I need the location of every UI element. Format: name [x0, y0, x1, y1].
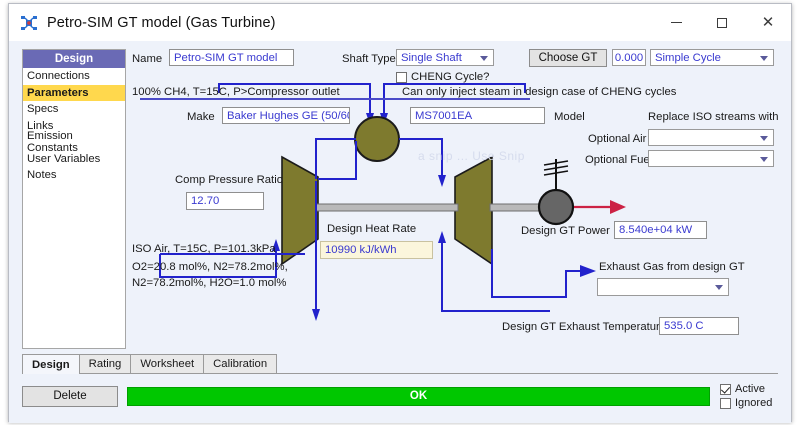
cycle-type-value: Simple Cycle [655, 52, 721, 64]
optional-air-label: Optional Air [588, 133, 646, 145]
status-bar: Delete OK Active Ignored [22, 385, 778, 407]
maximize-icon [717, 18, 727, 28]
status-flags: Active Ignored [720, 383, 772, 409]
tab-worksheet[interactable]: Worksheet [130, 354, 204, 373]
cheng-cycle-check-box[interactable] [396, 72, 407, 83]
chevron-down-icon [480, 56, 488, 61]
shaft-type-value: Single Shaft [401, 52, 462, 64]
title-bar: Petro-SIM GT model (Gas Turbine) ✕ [9, 4, 791, 41]
chevron-down-icon [760, 157, 768, 162]
optional-air-select[interactable] [648, 129, 774, 146]
shaft-type-select[interactable]: Single Shaft [396, 49, 494, 66]
active-checkbox[interactable]: Active [720, 383, 772, 395]
sidebar-item-parameters[interactable]: Parameters [23, 85, 125, 102]
sidebar-item-specs[interactable]: Specs [23, 101, 125, 118]
optional-fuel-select[interactable] [648, 150, 774, 167]
model-input[interactable]: MS7001EA [410, 107, 545, 124]
iso-air-line: ISO Air, T=15C, P=101.3kPa [132, 243, 276, 255]
sidebar-item-connections[interactable]: Connections [23, 68, 125, 85]
name-label: Name [132, 53, 162, 65]
nav-header: Design [23, 50, 125, 68]
application-window: Petro-SIM GT model (Gas Turbine) ✕ Desig… [8, 3, 792, 422]
delete-button[interactable]: Delete [22, 386, 118, 407]
sidebar-item-emission-constants[interactable]: Emission Constants [23, 134, 125, 151]
sidebar-item-notes[interactable]: Notes [23, 167, 125, 184]
exhaust-gas-label: Exhaust Gas from design GT [599, 261, 745, 273]
iso-composition-line-2: N2=78.2mol%, H2O=1.0 mol% [132, 277, 286, 289]
window-title: Petro-SIM GT model (Gas Turbine) [47, 15, 276, 31]
optional-fuel-label: Optional Fuel [585, 154, 652, 166]
exhaust-temp-value[interactable]: 535.0 C [659, 317, 739, 335]
gt-numeric-input[interactable]: 0.000 [612, 49, 646, 66]
ignored-checkbox[interactable]: Ignored [720, 397, 772, 409]
chevron-down-icon [760, 136, 768, 141]
chevron-down-icon [715, 285, 723, 290]
model-label: Model [554, 111, 585, 123]
client-area: Design Connections Parameters Specs Link… [9, 41, 791, 423]
replace-iso-label: Replace ISO streams with [648, 111, 779, 123]
close-button[interactable]: ✕ [745, 4, 791, 41]
comp-pressure-ratio-input[interactable]: 12.70 [186, 192, 264, 210]
make-label: Make [187, 111, 215, 123]
gas-turbine-icon [19, 13, 39, 33]
tab-rating[interactable]: Rating [79, 354, 132, 373]
make-input[interactable]: Baker Hughes GE (50/60 Hz [222, 107, 350, 124]
ignored-label: Ignored [735, 397, 772, 409]
fuel-note: 100% CH4, T=15C, P>Compressor outlet [132, 86, 340, 98]
design-heat-rate-label: Design Heat Rate [327, 223, 416, 235]
chevron-down-icon [760, 56, 768, 61]
minimize-button[interactable] [653, 4, 699, 41]
exhaust-gas-select[interactable] [597, 278, 729, 296]
minimize-icon [671, 22, 682, 23]
exhaust-temp-label: Design GT Exhaust Temperature [502, 321, 666, 333]
status-badge: OK [127, 387, 710, 406]
ignored-check-box[interactable] [720, 398, 731, 409]
cheng-cycle-label: CHENG Cycle? [411, 71, 489, 83]
design-gt-power-value[interactable]: 8.540e+04 kW [614, 221, 707, 239]
close-icon: ✕ [762, 15, 775, 30]
name-input[interactable]: Petro-SIM GT model [169, 49, 294, 66]
cheng-cycle-checkbox[interactable]: CHENG Cycle? [396, 71, 489, 83]
tab-strip: Design Rating Worksheet Calibration [22, 354, 778, 374]
comp-pressure-ratio-label: Comp Pressure Ratio [175, 174, 283, 186]
design-gt-power-label: Design GT Power [521, 225, 610, 237]
shaft-type-label: Shaft Type [342, 53, 396, 65]
window-controls: ✕ [653, 4, 791, 41]
cheng-note: Can only inject steam in design case of … [402, 86, 676, 98]
maximize-button[interactable] [699, 4, 745, 41]
active-check-box[interactable] [720, 384, 731, 395]
tab-calibration[interactable]: Calibration [203, 354, 277, 373]
navigation-panel: Design Connections Parameters Specs Link… [22, 49, 126, 349]
cycle-type-select[interactable]: Simple Cycle [650, 49, 774, 66]
diagram-watermark: a snip ... Use Snip [418, 149, 525, 163]
parameters-pane: a snip ... Use Snip Name Petro-SIM GT mo… [130, 49, 780, 349]
choose-gt-button[interactable]: Choose GT [529, 49, 607, 67]
design-heat-rate-value[interactable]: 10990 kJ/kWh [320, 241, 433, 259]
iso-composition-line-1: O2=20.8 mol%, N2=78.2mol%, [132, 261, 288, 273]
tab-design[interactable]: Design [22, 354, 80, 374]
active-label: Active [735, 383, 765, 395]
